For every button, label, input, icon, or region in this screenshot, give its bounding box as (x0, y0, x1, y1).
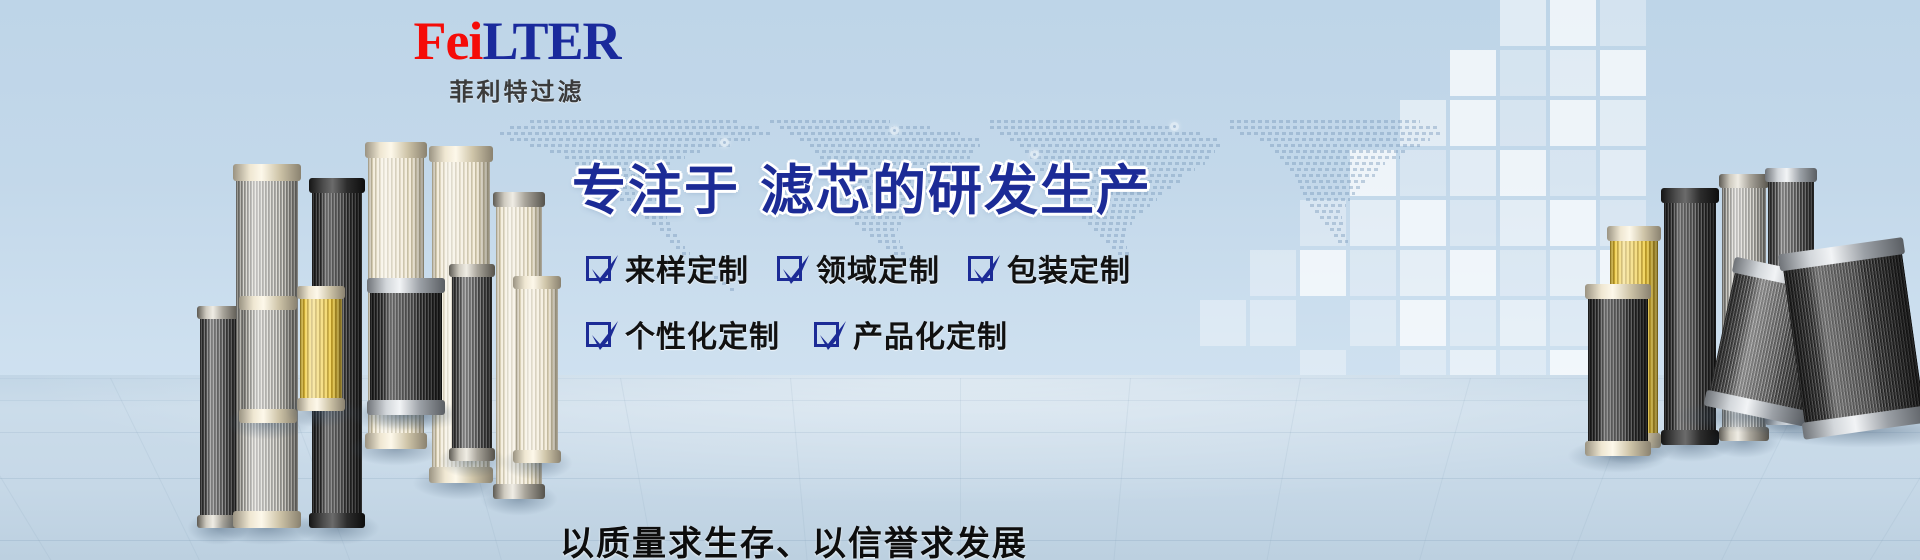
cartridge-bottom-cap (513, 450, 561, 463)
feature-item: 产品化定制 (814, 312, 1008, 356)
filter-cartridge (242, 300, 294, 420)
map-dot-row (510, 126, 760, 129)
map-dot-row (1303, 192, 1355, 195)
cartridge-top-cap (367, 278, 445, 293)
map-dot-row (1325, 222, 1343, 225)
checkbox-checked-icon (586, 253, 616, 283)
filter-cartridge (370, 282, 442, 412)
filter-cartridge-group-left (200, 0, 201, 1)
map-dot-row (1106, 240, 1126, 243)
map-marker-dot (1170, 122, 1179, 131)
map-dot-row (1260, 138, 1430, 141)
map-dot-row (790, 132, 960, 135)
map-dot-row (1334, 234, 1346, 237)
feature-item: 包装定制 (968, 246, 1131, 290)
mosaic-square (1500, 150, 1546, 196)
mosaic-square (1450, 50, 1496, 96)
map-dot-row (500, 132, 770, 135)
feature-item: 个性化定制 (586, 312, 780, 356)
cartridge-bottom-cap (449, 448, 495, 461)
mosaic-square (1600, 50, 1646, 96)
company-logo: FeiLTER 菲利特过滤 (392, 12, 642, 107)
tagline: 以质量求生存、以信誉求发展 (560, 516, 1028, 560)
filter-cartridge (1588, 288, 1648, 453)
mosaic-square (1550, 0, 1596, 46)
mosaic-square (1600, 0, 1646, 46)
map-dot-row (1270, 144, 1420, 147)
headline: 专注于滤芯的研发生产 (572, 146, 1152, 225)
cartridge-top-cap (1607, 226, 1661, 241)
cartridge-mesh-body (300, 290, 342, 408)
cartridge-bottom-cap (367, 400, 445, 415)
map-dot-row (1240, 132, 1440, 135)
map-dot-row (510, 138, 750, 141)
cartridge-top-cap (309, 178, 365, 193)
filter-cartridge (516, 280, 558, 460)
map-dot-row (1000, 132, 1200, 135)
feature-label: 产品化定制 (853, 312, 1008, 356)
cartridge-top-cap (1661, 188, 1719, 203)
map-dot-row (1330, 228, 1344, 231)
map-dot-row (1298, 180, 1368, 183)
map-dot-row (990, 126, 1170, 129)
cartridge-mesh-body (452, 268, 492, 458)
map-dot-row (780, 126, 930, 129)
map-dot-row (990, 120, 1140, 123)
mosaic-square (1550, 150, 1596, 196)
map-dot-row (878, 240, 900, 243)
cartridge-top-cap (449, 264, 495, 277)
map-dot-row (1315, 210, 1343, 213)
map-dot-row (1290, 168, 1380, 171)
filter-cartridge (452, 268, 492, 458)
cartridge-mesh-body (370, 282, 442, 412)
mosaic-square (1550, 100, 1596, 146)
feature-row: 个性化定制 产品化定制 (586, 312, 1131, 356)
map-dot-row (1230, 126, 1440, 129)
map-dot-row (1010, 138, 1220, 141)
map-dot-row (800, 138, 980, 141)
map-dot-row (1338, 240, 1348, 243)
mosaic-square (1600, 150, 1646, 196)
cartridge-bottom-cap (309, 513, 365, 528)
cartridge-mesh-body (1782, 241, 1920, 436)
mosaic-square (1600, 100, 1646, 146)
checkbox-checked-icon (814, 319, 844, 349)
feature-list: 来样定制 领域定制 包装定制 (586, 246, 1131, 370)
cartridge-bottom-cap (1585, 441, 1651, 456)
cartridge-top-cap (297, 286, 345, 299)
feature-label: 包装定制 (1007, 246, 1131, 290)
cartridge-bottom-cap (297, 398, 345, 411)
map-dot-row (1285, 162, 1385, 165)
feature-label: 来样定制 (625, 246, 749, 290)
feature-row: 来样定制 领域定制 包装定制 (586, 246, 1131, 290)
logo-wordmark-red: Fei (413, 11, 482, 71)
mosaic-square (1500, 50, 1546, 96)
map-dot-row (1280, 156, 1400, 159)
cartridge-bottom-cap (493, 484, 545, 499)
cartridge-mesh-body (242, 300, 294, 420)
map-dot-row (770, 120, 890, 123)
checkbox-checked-icon (777, 253, 807, 283)
map-marker-dot (890, 126, 899, 135)
cartridge-top-cap (1585, 284, 1651, 299)
map-dot-row (666, 234, 678, 237)
feature-label: 领域定制 (816, 246, 940, 290)
map-dot-row (670, 240, 680, 243)
feature-label: 个性化定制 (625, 312, 780, 356)
logo-wordmark-blue: LTER (482, 11, 620, 71)
filter-cartridge-group-right (1610, 0, 1611, 1)
map-dot-row (1300, 186, 1362, 189)
cartridge-bottom-cap (365, 433, 427, 449)
mosaic-square (1500, 0, 1546, 46)
map-dot-row (660, 228, 674, 231)
cartridge-top-cap (1719, 174, 1769, 188)
mosaic-square (1550, 200, 1596, 246)
cartridge-top-cap (197, 306, 239, 319)
map-dot-row (862, 228, 898, 231)
headline-part-1: 专注于 (572, 161, 740, 221)
cartridge-top-cap (239, 296, 297, 310)
map-dot-row (1310, 204, 1346, 207)
mosaic-square (1500, 200, 1546, 246)
cartridge-bottom-cap (233, 511, 301, 528)
filter-cartridge (300, 290, 342, 408)
mosaic-square (1500, 100, 1546, 146)
cartridge-top-cap (429, 146, 493, 162)
map-dot-row (1100, 234, 1126, 237)
map-dot-row (530, 120, 740, 123)
cartridge-mesh-body (1588, 288, 1648, 453)
map-dot-row (1306, 198, 1350, 201)
map-dot-row (1320, 216, 1342, 219)
logo-wordmark: FeiLTER (392, 12, 642, 70)
headline-part-2: 滤芯的研发生产 (760, 161, 1152, 221)
logo-chinese-name: 菲利特过滤 (392, 72, 642, 107)
feature-item: 领域定制 (777, 246, 940, 290)
mosaic-square (1500, 300, 1546, 346)
promo-banner: FeiLTER 菲利特过滤 专注于滤芯的研发生产 来样定制 领域定制 (0, 0, 1920, 560)
map-dot-row (870, 234, 898, 237)
map-dot-row (1094, 228, 1128, 231)
cartridge-top-cap (1765, 168, 1817, 182)
mosaic-square (1550, 50, 1596, 96)
cartridge-top-cap (493, 192, 545, 207)
filter-cartridge (1782, 241, 1920, 436)
feature-item: 来样定制 (586, 246, 749, 290)
cartridge-top-cap (233, 164, 301, 181)
cartridge-top-cap (365, 142, 427, 158)
mosaic-square (1500, 250, 1546, 296)
map-dot-row (1230, 120, 1420, 123)
map-dot-row (1275, 150, 1405, 153)
checkbox-checked-icon (586, 319, 616, 349)
checkbox-checked-icon (968, 253, 998, 283)
cartridge-mesh-body (516, 280, 558, 460)
map-dot-row (1295, 174, 1375, 177)
cartridge-top-cap (513, 276, 561, 289)
